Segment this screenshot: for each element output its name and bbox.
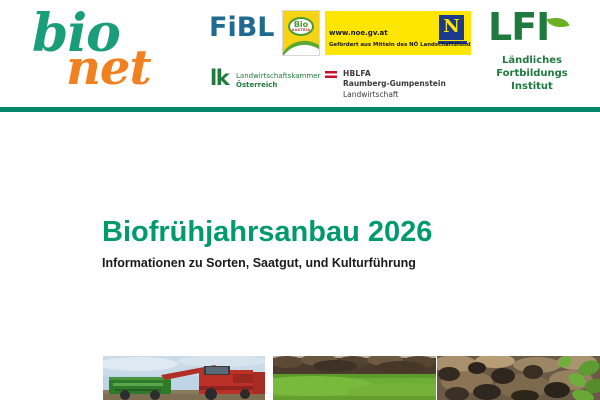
noe-landschaftsfonds-logo[interactable]: N www.noe.gv.at Gefördert aus Mitteln de… [325,11,471,55]
bio-austria-austria-text: AUSTRIA [290,29,312,33]
noe-n-mark-icon: N [438,14,465,41]
lfi-line-2: Fortbildungs [482,69,582,79]
lfi-line-1: Ländliches [482,56,582,66]
noe-website-url[interactable]: www.noe.gv.at [329,30,388,37]
lk-line-1: Landwirtschaftskammer [236,73,320,80]
hblfa-logo[interactable]: HBLFA Raumberg-Gumpenstein Landwirtschaf… [325,68,475,104]
page-subtitle: Informationen zu Sorten, Saatgut, und Ku… [102,257,416,271]
photo-green-field-with-treeline [273,356,436,400]
lfi-line-3: Institut [482,82,582,92]
header-divider [0,107,600,112]
lfi-leaf-icon [546,13,569,32]
photo-dark-soil-with-seedlings [437,356,600,400]
photo-strip [103,356,600,400]
photo-combine-harvester-unloading-grain [103,356,265,400]
bio-austria-logo[interactable]: Bio AUSTRIA [282,10,320,56]
header-logo-band: bio net FiBL Bio AUSTRIA N www.noe.gv.at… [0,0,600,107]
noe-n-letter: N [439,15,464,38]
noe-funding-note: Gefördert aus Mitteln des NÖ Landschafts… [329,43,471,48]
lk-mark-text: lk [210,68,228,89]
landwirtschaftskammer-logo[interactable]: lk Landwirtschaftskammer Österreich [210,68,320,98]
bionet-logo-net-text: net [66,44,151,92]
lfi-mark-text: LFI [488,8,549,46]
bio-austria-oval-icon: Bio AUSTRIA [288,17,314,36]
lfi-logo[interactable]: LFI Ländliches Fortbildungs Institut [482,8,582,102]
fibl-logo[interactable]: FiBL [209,14,274,41]
hblfa-line-3: Landwirtschaft [343,91,398,99]
hblfa-line-2: Raumberg-Gumpenstein [343,80,446,88]
bionet-logo[interactable]: bio net [28,6,178,101]
austria-flag-icon [325,71,337,78]
page-title: Biofrühjahrsanbau 2026 [102,217,432,249]
lk-line-2: Österreich [236,82,277,89]
hblfa-line-1: HBLFA [343,70,371,78]
